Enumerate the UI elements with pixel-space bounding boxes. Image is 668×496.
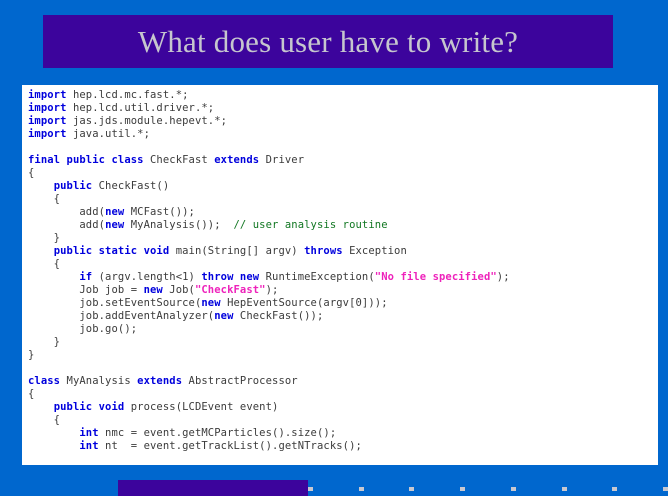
code-token-kw: int <box>79 440 98 452</box>
code-line <box>28 141 658 154</box>
code-token-kw: if <box>79 271 92 283</box>
footer-dash <box>663 487 668 491</box>
footer-dash <box>359 487 364 491</box>
code-token-str: "No file specified" <box>375 271 497 283</box>
code-token-pl: job.go(); <box>28 323 137 335</box>
code-token-pl: { <box>28 167 34 179</box>
code-line: job.setEventSource(new HepEventSource(ar… <box>28 297 658 310</box>
code-listing-panel: import hep.lcd.mc.fast.*;import hep.lcd.… <box>22 85 658 465</box>
code-token-pl: RuntimeException( <box>259 271 375 283</box>
code-token-kw: throw new <box>201 271 259 283</box>
code-token-kw: final public class <box>28 154 144 166</box>
code-token-kw: new <box>144 284 163 296</box>
code-token-kw: import <box>28 102 67 114</box>
java-source-code: import hep.lcd.mc.fast.*;import hep.lcd.… <box>22 85 658 465</box>
footer-dash <box>409 487 414 491</box>
code-token-pl: (argv.length<1) <box>92 271 201 283</box>
code-token-pl: Job job = <box>28 284 144 296</box>
code-token-kw: import <box>28 128 67 140</box>
code-line: public CheckFast() <box>28 180 658 193</box>
code-token-kw: int <box>79 427 98 439</box>
code-token-kw: class <box>28 375 60 387</box>
code-token-pl: } <box>28 232 60 244</box>
code-line: job.go(); <box>28 323 658 336</box>
footer-dash <box>460 487 465 491</box>
code-token-kw: extends <box>137 375 182 387</box>
code-line: add(new MyAnalysis()); // user analysis … <box>28 219 658 232</box>
code-line: { <box>28 258 658 271</box>
page-title: What does user have to write? <box>138 26 518 57</box>
code-line: import hep.lcd.mc.fast.*; <box>28 89 658 102</box>
code-token-pl: ); <box>497 271 510 283</box>
code-line: { <box>28 193 658 206</box>
footer-dash <box>511 487 516 491</box>
code-token-pl <box>28 180 54 192</box>
footer-accent-bar <box>118 480 308 496</box>
code-token-pl: Exception <box>343 245 407 257</box>
code-line: } <box>28 336 658 349</box>
code-token-pl: { <box>28 388 34 400</box>
code-line: import hep.lcd.util.driver.*; <box>28 102 658 115</box>
code-token-pl: { <box>28 414 60 426</box>
code-token-pl: hep.lcd.mc.fast.*; <box>67 89 189 101</box>
code-line: job.addEventAnalyzer(new CheckFast()); <box>28 310 658 323</box>
code-line: } <box>28 349 658 362</box>
code-line: public static void main(String[] argv) t… <box>28 245 658 258</box>
code-token-kw: new <box>105 219 124 231</box>
code-token-pl: process(LCDEvent event) <box>124 401 278 413</box>
code-line: add(new MCFast()); <box>28 206 658 219</box>
code-line: public void process(LCDEvent event) <box>28 401 658 414</box>
code-token-pl <box>28 271 79 283</box>
footer-dashed-rule <box>308 486 668 491</box>
code-token-pl: main(String[] argv) <box>169 245 304 257</box>
code-token-pl: CheckFast <box>144 154 215 166</box>
code-line <box>28 362 658 375</box>
footer-dash <box>308 487 313 491</box>
code-token-pl: AbstractProcessor <box>182 375 298 387</box>
code-token-pl: } <box>28 336 60 348</box>
code-token-pl: CheckFast()); <box>234 310 324 322</box>
code-token-pl: ); <box>266 284 279 296</box>
code-token-kw: public <box>54 180 93 192</box>
code-line: import jas.jds.module.hepevt.*; <box>28 115 658 128</box>
code-token-kw: new <box>214 310 233 322</box>
code-line <box>28 453 658 465</box>
code-line: class MyAnalysis extends AbstractProcess… <box>28 375 658 388</box>
code-line: int nt = event.getTrackList().getNTracks… <box>28 440 658 453</box>
code-token-pl: nmc = event.getMCParticles().size(); <box>99 427 337 439</box>
code-line: import java.util.*; <box>28 128 658 141</box>
code-token-pl: CheckFast() <box>92 180 169 192</box>
code-token-pl <box>28 401 54 413</box>
code-token-kw: import <box>28 89 67 101</box>
code-token-pl: hep.lcd.util.driver.*; <box>67 102 215 114</box>
code-token-kw: new <box>201 297 220 309</box>
code-line: { <box>28 167 658 180</box>
code-token-pl: } <box>28 349 34 361</box>
code-token-kw: new <box>105 206 124 218</box>
code-token-pl: HepEventSource(argv[0])); <box>221 297 388 309</box>
code-line: { <box>28 414 658 427</box>
code-token-pl: job.addEventAnalyzer( <box>28 310 214 322</box>
footer-dash <box>562 487 567 491</box>
code-token-str: "CheckFast" <box>195 284 266 296</box>
code-token-pl <box>28 245 54 257</box>
code-token-pl: jas.jds.module.hepevt.*; <box>67 115 228 127</box>
code-token-pl: MCFast()); <box>124 206 195 218</box>
code-token-pl: { <box>28 193 60 205</box>
code-token-kw: public void <box>54 401 125 413</box>
code-line: } <box>28 232 658 245</box>
code-token-pl: MyAnalysis <box>60 375 137 387</box>
code-token-pl: java.util.*; <box>67 128 150 140</box>
code-token-pl: { <box>28 258 60 270</box>
footer-dash <box>612 487 617 491</box>
code-token-cmt: // user analysis routine <box>234 219 388 231</box>
code-token-pl: Driver <box>259 154 304 166</box>
code-token-pl: MyAnalysis()); <box>124 219 233 231</box>
code-token-pl: nt = event.getTrackList().getNTracks(); <box>99 440 362 452</box>
code-token-kw: extends <box>214 154 259 166</box>
code-line: Job job = new Job("CheckFast"); <box>28 284 658 297</box>
code-token-pl <box>28 427 79 439</box>
code-token-pl: add( <box>28 206 105 218</box>
slide-title-banner: What does user have to write? <box>43 15 613 68</box>
code-line: if (argv.length<1) throw new RuntimeExce… <box>28 271 658 284</box>
code-line: int nmc = event.getMCParticles().size(); <box>28 427 658 440</box>
code-token-kw: throws <box>304 245 343 257</box>
code-token-pl <box>28 440 79 452</box>
code-line: final public class CheckFast extends Dri… <box>28 154 658 167</box>
code-token-kw: import <box>28 115 67 127</box>
code-token-pl: Job( <box>163 284 195 296</box>
code-line: { <box>28 388 658 401</box>
code-token-pl: add( <box>28 219 105 231</box>
code-token-pl: job.setEventSource( <box>28 297 201 309</box>
code-token-kw: public static void <box>54 245 170 257</box>
